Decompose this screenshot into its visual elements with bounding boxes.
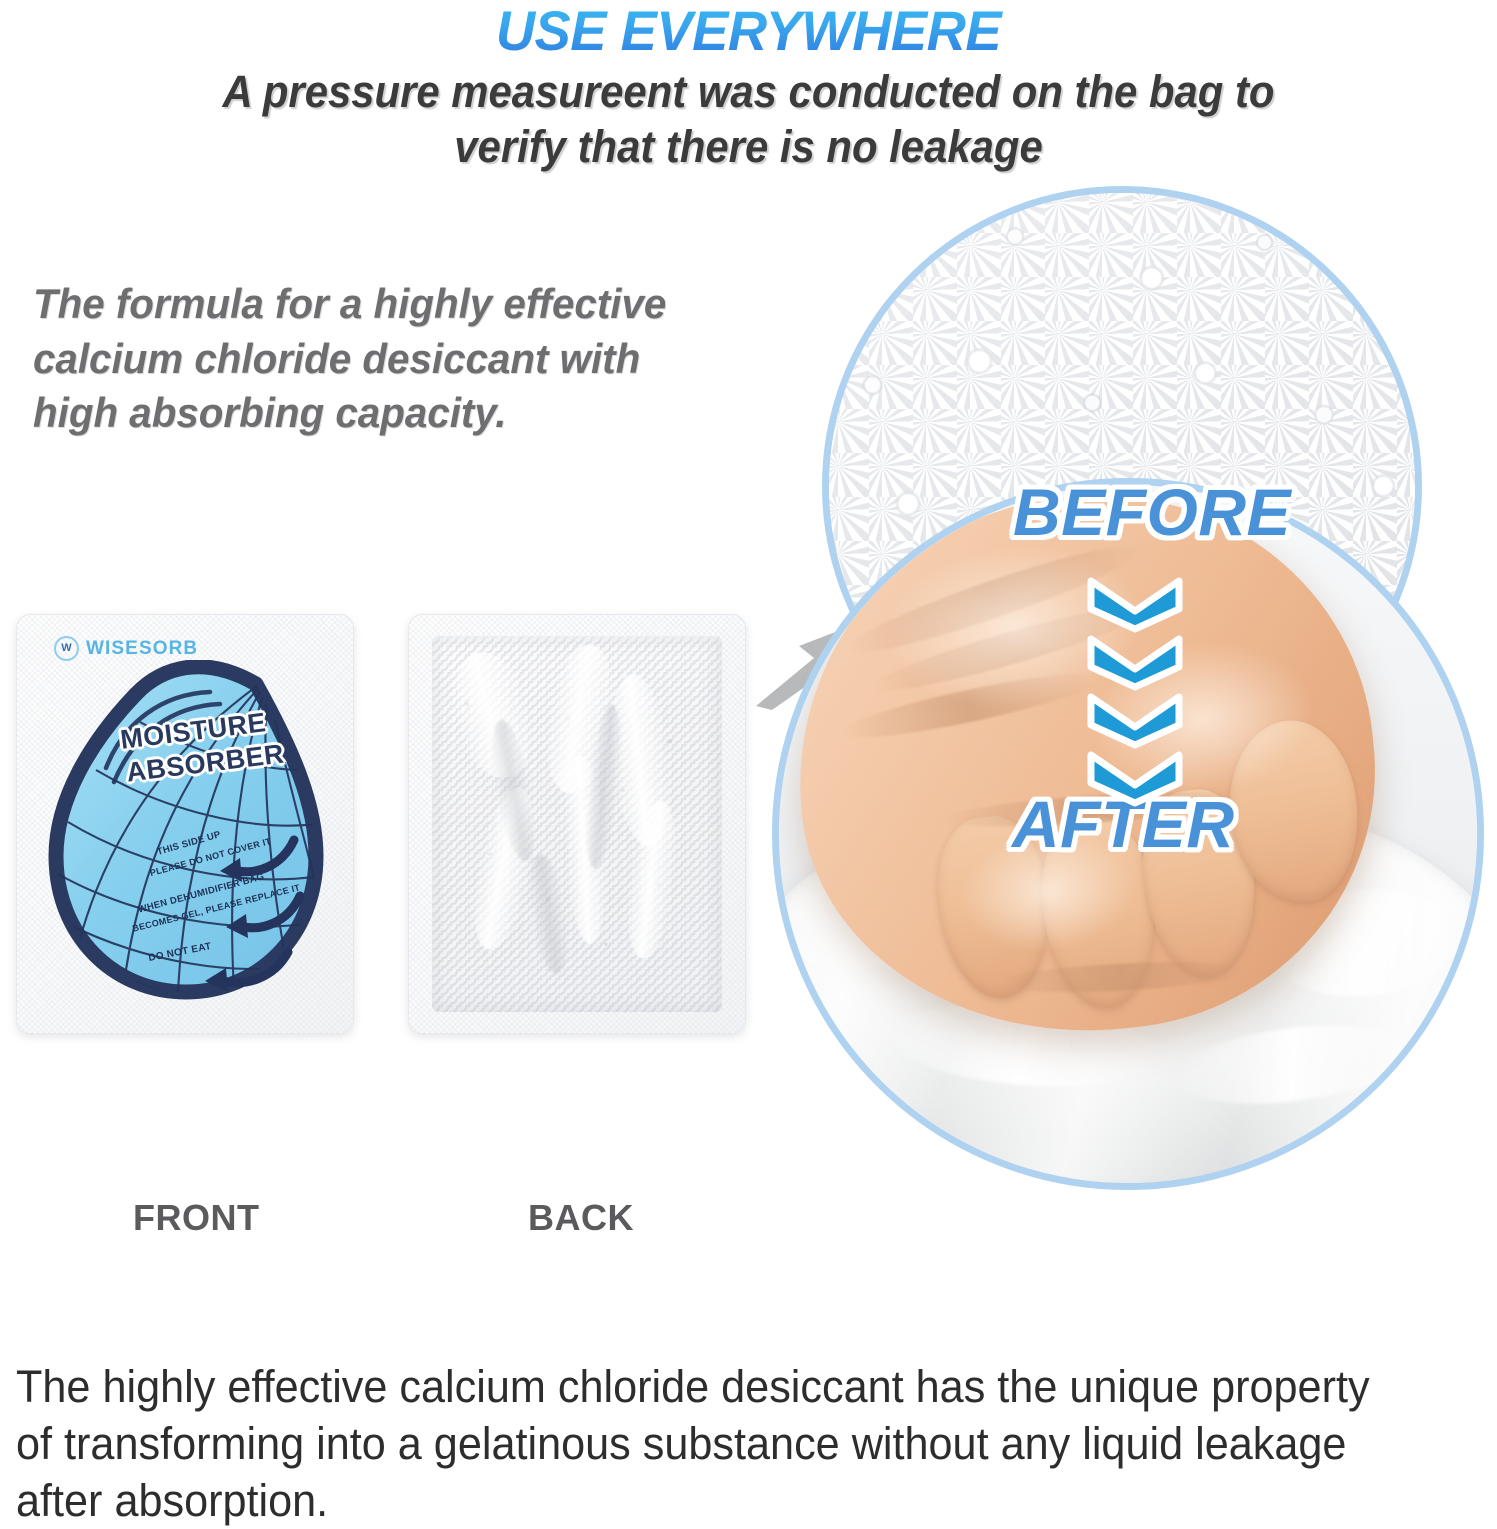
product-packet-front: W WISESORB (16, 614, 354, 1034)
water-drop-svg (44, 660, 326, 1012)
lead-paragraph: The formula for a highly effective calci… (33, 277, 763, 441)
product-packet-back (408, 614, 746, 1034)
page-subtitle-line-1: A pressure measureent was conducted on t… (52, 65, 1444, 120)
chevron-down-icon (1081, 635, 1189, 691)
packet-back-artwork (408, 614, 746, 1034)
chevron-down-icon (1081, 693, 1189, 749)
footer-paragraph: The highly effective calcium chloride de… (16, 1358, 1427, 1529)
footer-paragraph-line-2: of transforming into a gelatinous substa… (16, 1415, 1427, 1472)
caption-back: BACK (528, 1197, 634, 1239)
footer-paragraph-line-1: The highly effective calcium chloride de… (16, 1358, 1427, 1415)
packet-front-artwork: W WISESORB (16, 614, 354, 1034)
downward-chevron-stack (1081, 577, 1191, 807)
chevron-down-icon (1081, 577, 1189, 633)
water-drop-globe-graphic: MOISTURE ABSORBER THIS SIDE UP PLEASE DO… (44, 660, 326, 1012)
desiccant-bead-window (432, 636, 722, 1012)
page-title: USE EVERYWHERE (22, 2, 1474, 59)
page-subtitle: A pressure measureent was conducted on t… (52, 65, 1444, 175)
brand-lockup: W WISESORB (54, 636, 198, 661)
wisesorb-logo-icon: W (54, 636, 79, 661)
before-label: BEFORE (1013, 474, 1291, 550)
lead-paragraph-line-2: calcium chloride desiccant with (33, 332, 763, 387)
header-block: USE EVERYWHERE A pressure measureent was… (0, 0, 1497, 175)
lead-paragraph-line-3: high absorbing capacity. (33, 386, 763, 441)
caption-front: FRONT (133, 1197, 259, 1239)
page-subtitle-line-2: verify that there is no leakage (52, 120, 1444, 175)
chevron-down-icon (1081, 751, 1189, 807)
footer-paragraph-line-3: after absorption. (16, 1472, 1427, 1529)
brand-name: WISESORB (86, 638, 198, 660)
lead-paragraph-line-1: The formula for a highly effective (33, 277, 763, 332)
